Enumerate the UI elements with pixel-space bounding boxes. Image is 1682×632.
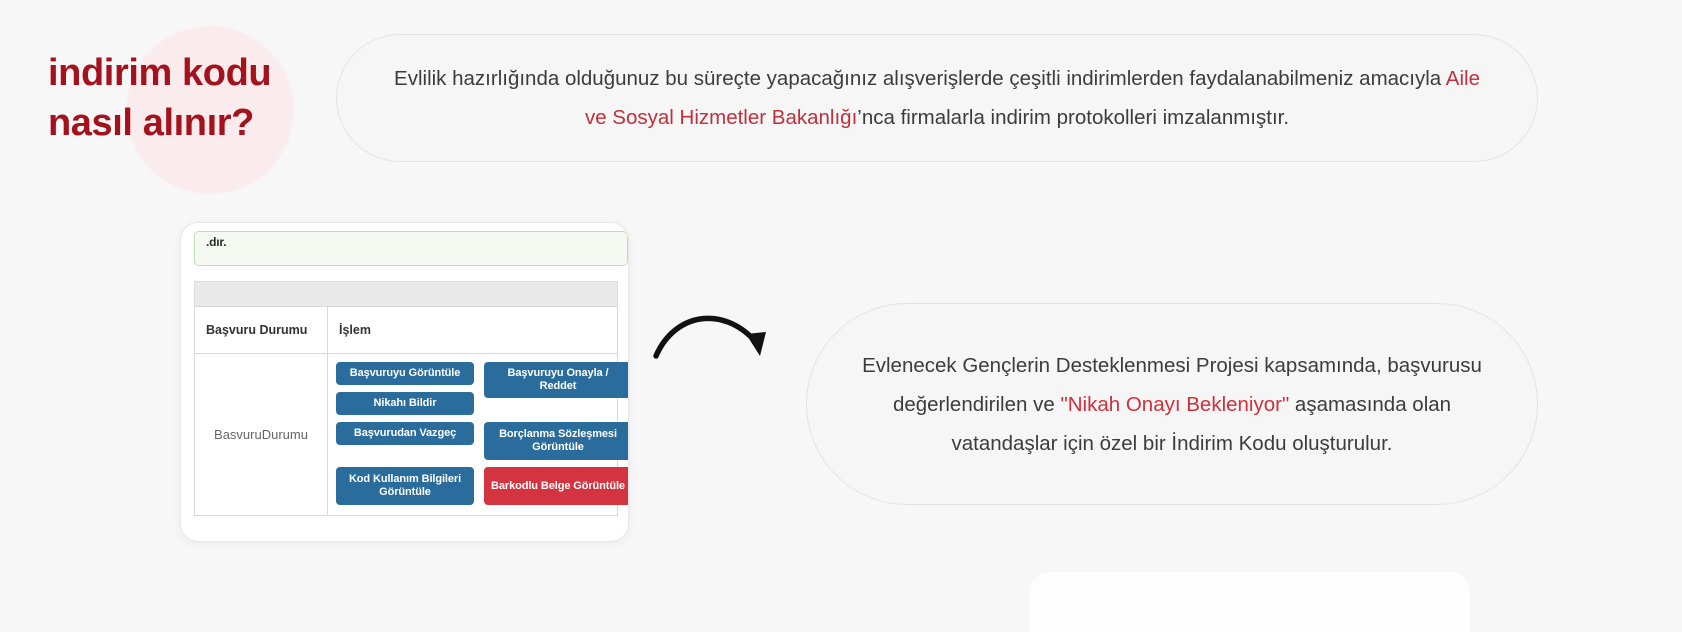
basvuruyu-onayla-reddet-button[interactable]: Başvuruyu Onayla / Reddet (484, 362, 628, 398)
explanation-card: Evlenecek Gençlerin Desteklenmesi Projes… (806, 303, 1538, 505)
explanation-paragraph: Evlenecek Gençlerin Desteklenmesi Projes… (859, 346, 1485, 463)
screenshot-card: .dır. Başvuru Durumu İşlem BasvuruDurumu… (180, 222, 629, 542)
table-toolbar (194, 281, 618, 306)
bottom-partial-card (1030, 572, 1470, 632)
kod-kullanim-bilgileri-goruntule-button[interactable]: Kod Kullanım Bilgileri Görüntüle (336, 467, 474, 505)
intro-text-part-1: Evlilik hazırlığında olduğunuz bu süreçt… (394, 67, 1446, 90)
basvuruyu-goruntule-button[interactable]: Başvuruyu Görüntüle (336, 362, 474, 385)
basvurudan-vazgec-button[interactable]: Başvurudan Vazgeç (336, 422, 474, 445)
explanation-highlight-status: "Nikah Onayı Bekleniyor" (1060, 393, 1289, 416)
table-header-row: Başvuru Durumu İşlem (195, 307, 618, 354)
page-title-line-1: indirim kodu (48, 52, 271, 94)
screenshot-viewport: .dır. Başvuru Durumu İşlem BasvuruDurumu… (194, 231, 628, 531)
intro-paragraph: Evlilik hazırlığında olduğunuz bu süreçt… (390, 59, 1484, 137)
table-row: BasvuruDurumu Başvuruyu Görüntüle Başvur… (195, 354, 618, 516)
column-header-basvuru-durumu: Başvuru Durumu (195, 307, 328, 354)
cell-basvuru-durumu: BasvuruDurumu (195, 354, 328, 516)
borclanma-sozlesmesi-goruntule-button[interactable]: Borçlanma Sözleşmesi Görüntüle (484, 422, 628, 460)
applications-table: Başvuru Durumu İşlem BasvuruDurumu Başvu… (194, 306, 618, 516)
intro-card: Evlilik hazırlığında olduğunuz bu süreçt… (336, 34, 1538, 162)
action-button-grid: Başvuruyu Görüntüle Başvuruyu Onayla / R… (336, 362, 609, 505)
cell-islem: Başvuruyu Görüntüle Başvuruyu Onayla / R… (328, 354, 618, 516)
nikahi-bildir-button[interactable]: Nikahı Bildir (336, 392, 474, 415)
barkodlu-belge-goruntule-button[interactable]: Barkodlu Belge Görüntüle (484, 467, 628, 505)
intro-text-part-2: ’nca firmalarla indirim protokolleri imz… (857, 106, 1289, 129)
page-title: indirim kodu nasıl alınır? (48, 48, 340, 148)
success-alert-text: .dır. (206, 235, 226, 249)
success-alert: .dır. (194, 231, 628, 266)
page-title-line-2: nasıl alınır? (48, 98, 340, 148)
curved-arrow-icon (648, 288, 778, 368)
column-header-islem: İşlem (328, 307, 618, 354)
